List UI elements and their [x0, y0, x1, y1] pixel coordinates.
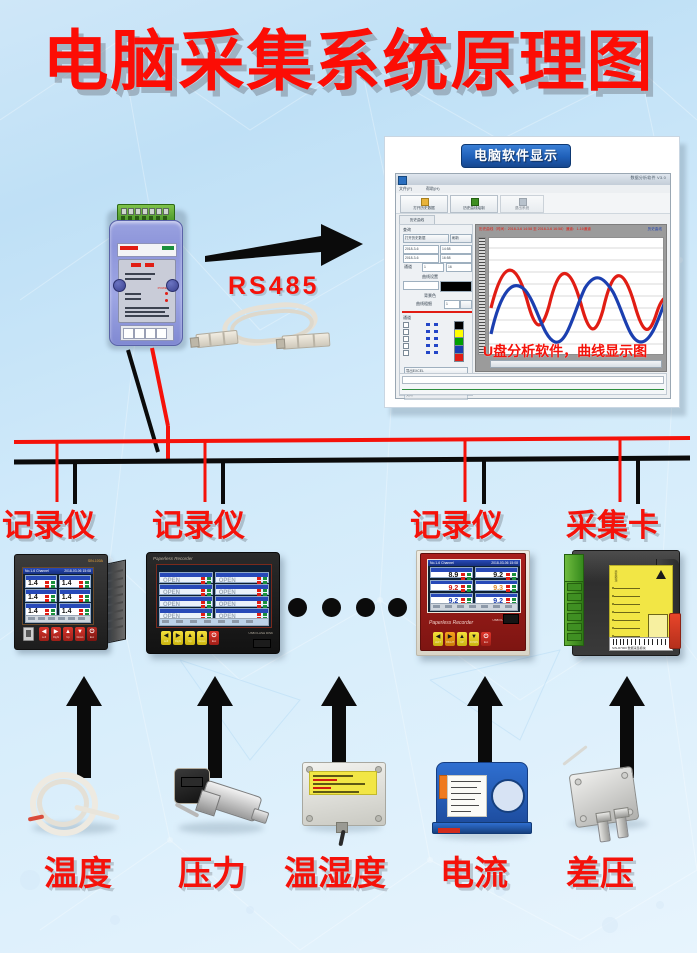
terminal-screw — [163, 208, 169, 215]
recorder-2-channel-grid: OPEN OPEN OPEN OPEN OPEN OPEN OPEN OPEN — [159, 572, 269, 619]
date-from-field[interactable]: 2018-3-6 — [403, 245, 439, 254]
recorder-1-model: SIN-100A — [88, 559, 103, 563]
channel-value: 1.4 — [62, 593, 72, 603]
recorder-3-screen-footer — [430, 603, 518, 611]
key-right[interactable]: ▶RIGHT — [445, 632, 455, 646]
key-esc[interactable]: ⏻Esc — [481, 632, 491, 646]
software-badge: 电脑软件显示 — [461, 144, 571, 168]
channel-value: 1.4 — [62, 579, 72, 589]
legend-title: 通道 — [403, 315, 411, 321]
more-devices-ellipsis — [288, 598, 408, 620]
card-label-box — [648, 614, 668, 638]
rs485-label: RS485 — [228, 272, 319, 301]
channel-bar-2 — [434, 323, 438, 326]
date-to-value: 2018-3-6 — [405, 255, 419, 262]
channel-cell: OPEN — [159, 572, 213, 583]
channel-cell: 9.2 — [475, 567, 518, 578]
curve-width-label: 曲线粗细 — [416, 301, 432, 307]
recorder-2: Paperless Recorder OPEN OPEN OPEN OPEN O… — [146, 552, 278, 656]
toolbar-exit-button[interactable]: 退出系统 — [500, 195, 544, 213]
channel-to-field[interactable]: 16 — [446, 263, 472, 272]
warning-triangle-icon — [656, 570, 666, 579]
key-left[interactable]: ◀Left — [39, 627, 49, 641]
module-knob-left[interactable] — [113, 279, 126, 292]
recorder-1-case: SIN-100A No.1-6 Channel 2018-03-06 15:08… — [14, 554, 108, 650]
date-from-value: 2018-3-6 — [405, 246, 419, 253]
channel-bar-1 — [426, 323, 430, 326]
channel-checkbox-1[interactable] — [403, 322, 409, 328]
chart-header-right: 历史曲线 — [648, 227, 662, 232]
toolbar-exit-label: 退出系统 — [501, 206, 543, 211]
recorder-1-screen-footer — [25, 615, 91, 623]
channel-cell: 9.2 — [430, 580, 473, 591]
key-up[interactable]: ▲Up — [185, 631, 195, 645]
recorder-1-screen[interactable]: No.1-6 Channel 2018-03-06 15:08 1.4 1.4 … — [22, 567, 94, 625]
module-tag-red-2 — [145, 263, 154, 267]
current-sensor-aperture — [491, 779, 525, 813]
sensor-label-current: 电流 — [440, 846, 508, 895]
module-strip-green-mark — [162, 246, 174, 250]
recorder-3-keypad: ◀LEFT ▶RIGHT ▲UP ▼DOWN ⏻Esc — [433, 632, 491, 646]
enclosure-screw — [306, 815, 313, 822]
recorder-2-keypad: ◀Left ▶Right ▲Up ▲Down ⏻Esc — [161, 631, 219, 645]
module-plate-line — [125, 315, 169, 317]
enclosure-screw — [574, 778, 582, 786]
menu-help[interactable]: 帮助(H) — [426, 186, 440, 192]
dp-port-nut-high — [595, 811, 611, 823]
refresh-button[interactable]: 刷新 — [450, 234, 472, 243]
card-barcode-text: SIN-R7000 数据采集模块 — [612, 646, 646, 650]
channel-label: 通道 — [404, 264, 412, 270]
module-plate-line — [125, 298, 141, 300]
card-barcode: SIN-R7000 数据采集模块 — [609, 637, 673, 651]
module-knob-right[interactable] — [166, 279, 179, 292]
sensor-label-temp-humidity: 温湿度 — [284, 846, 386, 895]
recorder-3-screen[interactable]: No.1-6 Channel 2018-03-06 15:08 8.9 9.2 … — [427, 559, 521, 613]
curve-width-apply-button[interactable] — [460, 300, 472, 309]
toolbar: 打开历史数据 历史曲线绘制 退出系统 — [396, 193, 670, 214]
module-plate-line — [125, 293, 141, 295]
recorder-2-brand: Paperless Recorder — [153, 556, 193, 561]
recorder-3-screen-title: No.1-6 Channel — [430, 560, 454, 566]
terminal-screw — [135, 208, 141, 215]
date-to-field[interactable]: 2018-3-6 — [403, 254, 439, 263]
module-info-plate: POWER — [118, 259, 176, 323]
sensor-label-temperature: 温度 — [44, 846, 112, 895]
module-body: POWER — [109, 220, 183, 346]
card-yellow-label: 采集模块 — [609, 565, 673, 645]
channel-cell: OPEN — [215, 584, 269, 595]
device-label-recorder-3: 记录仪 — [410, 500, 503, 545]
module-plate-line — [125, 307, 169, 309]
sensor-temp-humidity — [300, 760, 392, 846]
curve-width-field[interactable]: 1 — [444, 300, 460, 309]
panel-divider — [402, 311, 472, 313]
recorder-1-channel-grid: 1.4 1.4 1.4 1.4 1.4 1.4 — [25, 575, 91, 616]
refresh-label: 刷新 — [452, 235, 459, 242]
chart-icon — [471, 198, 479, 206]
card-din-clip — [669, 613, 681, 649]
temp-humidity-label — [309, 771, 377, 795]
time-to-field[interactable]: 16:58 — [440, 254, 472, 263]
key-down[interactable]: ▼Down — [75, 627, 85, 641]
enclosure-screw — [579, 815, 587, 823]
terminal-screw — [142, 208, 148, 215]
channel-cell: 1.4 — [25, 575, 57, 588]
recorder-3-screen-header: No.1-6 Channel 2018-03-06 15:08 — [428, 560, 520, 566]
recorder-2-screen-footer — [159, 618, 269, 626]
channel-cell: OPEN — [215, 596, 269, 607]
sensor-shadow — [178, 822, 264, 834]
menu-file[interactable]: 文件(F) — [399, 186, 412, 192]
key-left[interactable]: ◀LEFT — [433, 632, 443, 646]
module-tag-red-1 — [131, 263, 141, 267]
curve-group-title: 曲线设置 — [422, 274, 438, 280]
temperature-probe-coil-inner — [37, 779, 89, 827]
channel-cell: 1.4 — [59, 589, 91, 602]
time-to-value: 16:58 — [442, 255, 451, 262]
recorder-3-case: No.1-6 Channel 2018-03-06 15:08 8.9 9.2 … — [420, 553, 526, 651]
recorder-3-brand: Paperless Recorder — [429, 620, 473, 626]
sensor-differential-pressure — [554, 752, 666, 846]
acquisition-card: 采集模块 SIN-R7000 数据采集模块 — [548, 548, 688, 658]
recorder-2-screen[interactable]: OPEN OPEN OPEN OPEN OPEN OPEN OPEN OPEN — [156, 564, 272, 628]
recorder-1-screen-title: No.1-6 Channel — [25, 568, 49, 574]
enclosure-screw — [375, 815, 382, 822]
terminal-screw — [149, 208, 155, 215]
module-label-strip — [117, 243, 177, 257]
page-title: 电脑采集系统原理图 — [0, 26, 697, 96]
device-label-acquisition-card: 采集卡 — [566, 500, 659, 545]
chart-header-left: 历史曲线（时间：2018-3-6 14:58 至 2018-3-6 16:58）… — [479, 227, 591, 232]
key-esc[interactable]: ⏻Esc — [209, 631, 219, 645]
recorder-1-keypad: ◀Left ▶Right ▲Up ▼Down ⏻Esc — [39, 627, 97, 641]
status-led-rx — [165, 299, 168, 302]
sensor-temperature — [22, 766, 126, 838]
recorder-1: SIN-100A No.1-6 Channel 2018-03-06 15:08… — [14, 552, 126, 652]
channel-cell: 8.9 — [430, 567, 473, 578]
recorder-3-usb-port[interactable] — [503, 614, 519, 624]
enclosure-screw — [621, 771, 629, 779]
terminal-screw — [156, 208, 162, 215]
sensor-current — [432, 758, 536, 844]
key-right[interactable]: ▶Right — [51, 627, 61, 641]
temp-humidity-enclosure — [302, 762, 386, 826]
card-label-title: 采集模块 — [614, 570, 618, 582]
key-up[interactable]: ▲UP — [457, 632, 467, 646]
recorder-2-usb-port[interactable] — [253, 639, 271, 648]
usb-port-icon[interactable] — [23, 627, 34, 641]
card-top-terminal — [564, 554, 584, 582]
current-sensor-label — [447, 775, 487, 817]
key-right[interactable]: ▶Right — [173, 631, 183, 645]
data-flow-arrow — [205, 222, 365, 272]
recorder-3: No.1-6 Channel 2018-03-06 15:08 8.9 9.2 … — [416, 550, 528, 656]
module-plate-line — [125, 273, 155, 275]
query-group-title: 查询 — [403, 227, 411, 233]
channel-value: 1.4 — [28, 579, 38, 589]
exit-icon — [519, 198, 527, 206]
key-left[interactable]: ◀Left — [161, 631, 171, 645]
open-data-button[interactable]: 打开历史数据 — [403, 234, 449, 243]
app-icon — [398, 176, 407, 185]
terminal-screw — [128, 208, 134, 215]
color-label: 背景色 — [424, 293, 436, 299]
dp-port-nut-low — [613, 807, 629, 819]
channel-cell: 1.4 — [25, 589, 57, 602]
key-esc[interactable]: ⏻Esc — [87, 627, 97, 641]
module-plate-line — [125, 311, 165, 313]
rs485-converter-module: POWER — [103, 204, 187, 350]
recorder-2-port-text: USB FLASH DISK — [248, 631, 273, 635]
recorder-3-channel-grid: 8.9 9.2 9.2 9.3 9.2 9.2 — [430, 567, 518, 604]
background-color-swatch[interactable] — [440, 281, 472, 292]
sensor-label-differential-pressure: 差压 — [566, 846, 634, 895]
card-body: 采集模块 SIN-R7000 数据采集模块 — [572, 550, 680, 656]
key-up[interactable]: ▲Up — [63, 627, 73, 641]
key-up-2[interactable]: ▲Down — [197, 631, 207, 645]
toolbar-open-history-button[interactable]: 打开历史数据 — [400, 195, 448, 213]
channel-from-value: 1 — [424, 264, 426, 271]
time-from-field[interactable]: 14:58 — [440, 245, 472, 254]
key-down[interactable]: ▼DOWN — [469, 632, 479, 646]
status-led-tx — [165, 292, 168, 295]
current-sensor-red-mark — [438, 828, 460, 833]
terminal-screw — [121, 208, 127, 215]
curve-select-field[interactable] — [403, 281, 439, 290]
open-data-label: 打开历史数据 — [405, 235, 425, 242]
current-sensor-body — [436, 762, 528, 826]
pressure-process-connection — [251, 808, 270, 824]
recorder-2-case: Paperless Recorder OPEN OPEN OPEN OPEN O… — [146, 552, 280, 654]
recorder-1-screen-time: 2018-03-06 15:08 — [64, 568, 91, 574]
channel-cell: 9.3 — [475, 580, 518, 591]
recorder-3-screen-time: 2018-03-06 15:08 — [491, 560, 518, 566]
device-label-recorder-2: 记录仪 — [152, 500, 245, 545]
window-title: 数据分析软件 V3.0 — [630, 175, 666, 181]
channel-cell: 1.4 — [59, 575, 91, 588]
toolbar-draw-curve-button[interactable]: 历史曲线绘制 — [450, 195, 498, 213]
module-plate-line — [125, 278, 151, 280]
channel-cell: OPEN — [159, 596, 213, 607]
toolbar-draw-curve-label: 历史曲线绘制 — [451, 206, 497, 211]
folder-icon — [421, 198, 429, 206]
channel-to-value: 16 — [448, 264, 452, 271]
sensor-pressure — [168, 762, 272, 840]
device-label-recorder-1: 记录仪 — [2, 500, 95, 545]
channel-from-field[interactable]: 1 — [422, 263, 444, 272]
curve-width-value: 1 — [446, 301, 448, 308]
channel-cell: OPEN — [215, 572, 269, 583]
module-strip-red-mark — [120, 246, 138, 250]
sensor-label-pressure: 压力 — [178, 846, 246, 895]
time-from-value: 14:58 — [442, 246, 451, 253]
channel-cell: OPEN — [159, 584, 213, 595]
recorder-1-screen-header: No.1-6 Channel 2018-03-06 15:08 — [23, 568, 93, 574]
channel-value: 1.4 — [28, 593, 38, 603]
diagram-canvas: 电脑采集系统原理图 电脑软件显示 数据分析软件 V3.0 文件(F) 帮助(H)… — [0, 0, 697, 953]
toolbar-open-history-label: 打开历史数据 — [401, 206, 447, 211]
